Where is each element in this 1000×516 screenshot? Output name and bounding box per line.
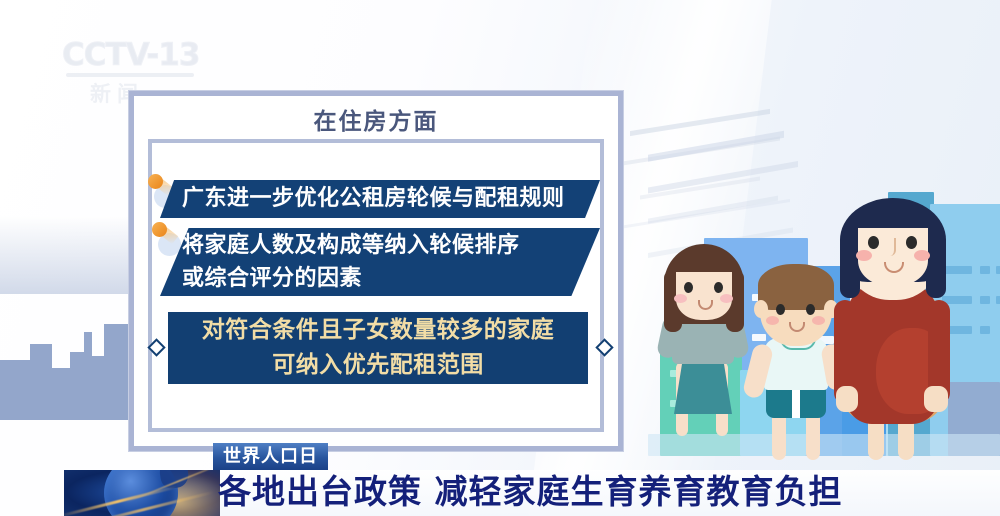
logo-divider: [66, 73, 194, 77]
page-title: 在住房方面: [134, 102, 618, 136]
policy-banner-3: 对符合条件且子女数量较多的家庭 可纳入优先配租范围: [168, 312, 588, 384]
pregnant-mother-figure: [824, 204, 956, 466]
policy-banner-1: 广东进一步优化公租房轮候与配租规则: [160, 180, 600, 218]
topic-tag: 世界人口日: [213, 443, 328, 470]
lower-third: 世界人口日 各地出台政策 减轻家庭生育养育教育负担: [0, 470, 1000, 516]
broadcast-screen: CCTV-13 新闻 在住房方面 广东进一步优化公租房轮候与配租规则 将家庭人数…: [0, 0, 1000, 516]
policy-banner-2-line-1: 将家庭人数及构成等纳入轮候排序: [182, 229, 600, 262]
policy-banner-1-line-1: 广东进一步优化公租房轮候与配租规则: [182, 180, 600, 218]
policy-banner-2-line-2: 或综合评分的因素: [182, 262, 600, 295]
news-globe-icon: [64, 470, 220, 516]
policy-banner-3-line-1: 对符合条件且子女数量较多的家庭: [168, 313, 588, 348]
channel-name: CCTV-13: [62, 38, 212, 72]
girl-child-figure: [650, 244, 758, 466]
policy-banner-2: 将家庭人数及构成等纳入轮候排序 或综合评分的因素: [160, 228, 600, 296]
policy-banner-3-line-2: 可纳入优先配租范围: [168, 348, 588, 383]
headline-text: 各地出台政策 减轻家庭生育养育教育负担: [218, 469, 843, 515]
cartoon-family-illustration: [648, 216, 1000, 466]
